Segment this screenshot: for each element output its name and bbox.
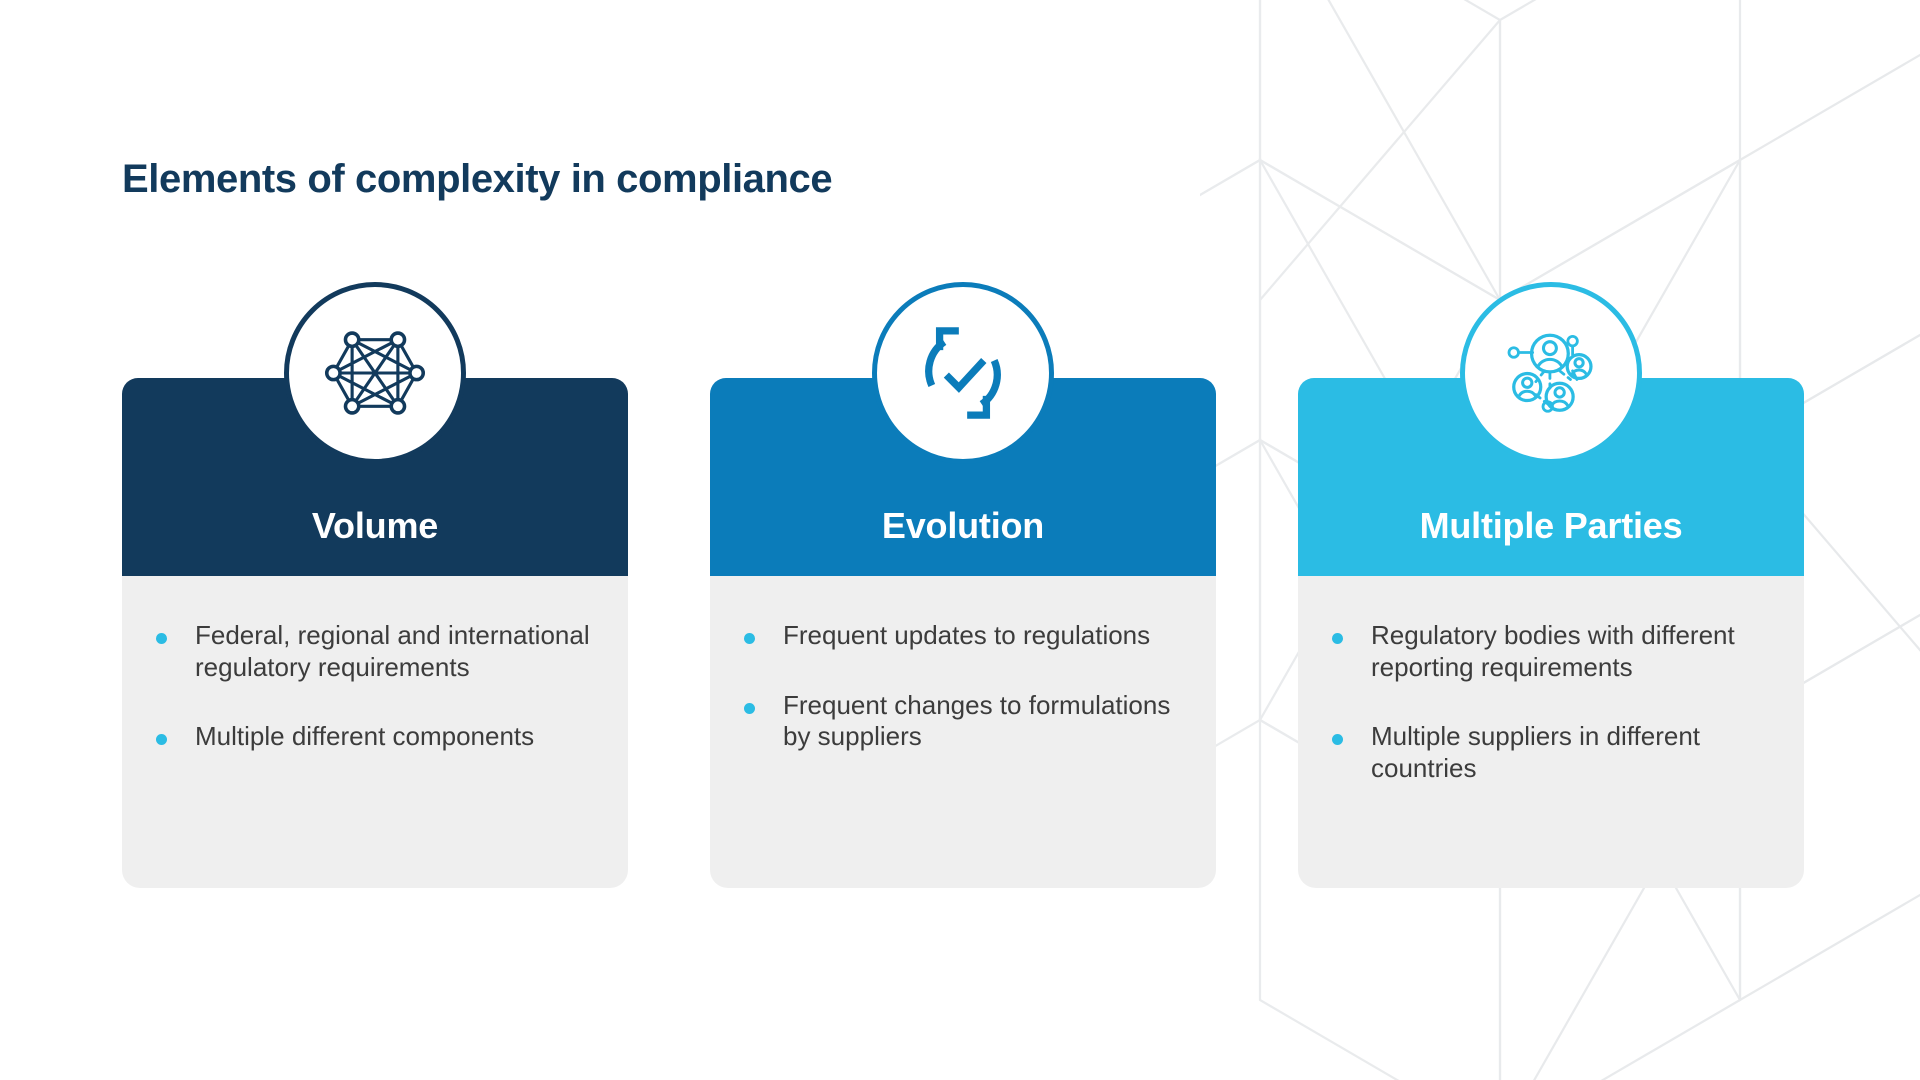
bullet-dot-icon bbox=[744, 633, 755, 644]
card-title: Volume bbox=[312, 508, 438, 544]
card-body-evolution: Frequent updates to regulations Frequent… bbox=[710, 576, 1216, 888]
card-evolution: Evolution Frequent updates to regulation… bbox=[710, 378, 1216, 888]
complexity-cards-row: Volume Federal, regional and internation… bbox=[122, 378, 1810, 888]
bullet-text: Frequent updates to regulations bbox=[783, 620, 1150, 652]
bullet-text: Frequent changes to formulations by supp… bbox=[783, 690, 1182, 753]
bullet-text: Federal, regional and international regu… bbox=[195, 620, 594, 683]
list-item: Multiple different components bbox=[156, 721, 594, 753]
bullet-text: Multiple suppliers in different countrie… bbox=[1371, 721, 1770, 784]
bullet-list: Federal, regional and international regu… bbox=[156, 620, 594, 753]
card-title: Multiple Parties bbox=[1420, 508, 1683, 544]
page-title: Elements of complexity in compliance bbox=[122, 157, 832, 202]
card-body-multiple-parties: Regulatory bodies with different reporti… bbox=[1298, 576, 1804, 888]
bullet-dot-icon bbox=[1332, 633, 1343, 644]
bullet-text: Regulatory bodies with different reporti… bbox=[1371, 620, 1770, 683]
list-item: Regulatory bodies with different reporti… bbox=[1332, 620, 1770, 683]
list-item: Frequent changes to formulations by supp… bbox=[744, 690, 1182, 753]
card-title: Evolution bbox=[882, 508, 1044, 544]
list-item: Federal, regional and international regu… bbox=[156, 620, 594, 683]
card-volume: Volume Federal, regional and internation… bbox=[122, 378, 628, 888]
bullet-dot-icon bbox=[156, 633, 167, 644]
bullet-dot-icon bbox=[156, 734, 167, 745]
connected-people-icon bbox=[1460, 282, 1642, 464]
refresh-check-icon bbox=[872, 282, 1054, 464]
network-nodes-icon bbox=[284, 282, 466, 464]
bullet-dot-icon bbox=[1332, 734, 1343, 745]
bullet-text: Multiple different components bbox=[195, 721, 534, 753]
card-body-volume: Federal, regional and international regu… bbox=[122, 576, 628, 888]
list-item: Frequent updates to regulations bbox=[744, 620, 1182, 652]
card-multiple-parties: Multiple Parties Regulatory bodies with … bbox=[1298, 378, 1804, 888]
bullet-dot-icon bbox=[744, 703, 755, 714]
list-item: Multiple suppliers in different countrie… bbox=[1332, 721, 1770, 784]
bullet-list: Frequent updates to regulations Frequent… bbox=[744, 620, 1182, 753]
bullet-list: Regulatory bodies with different reporti… bbox=[1332, 620, 1770, 785]
